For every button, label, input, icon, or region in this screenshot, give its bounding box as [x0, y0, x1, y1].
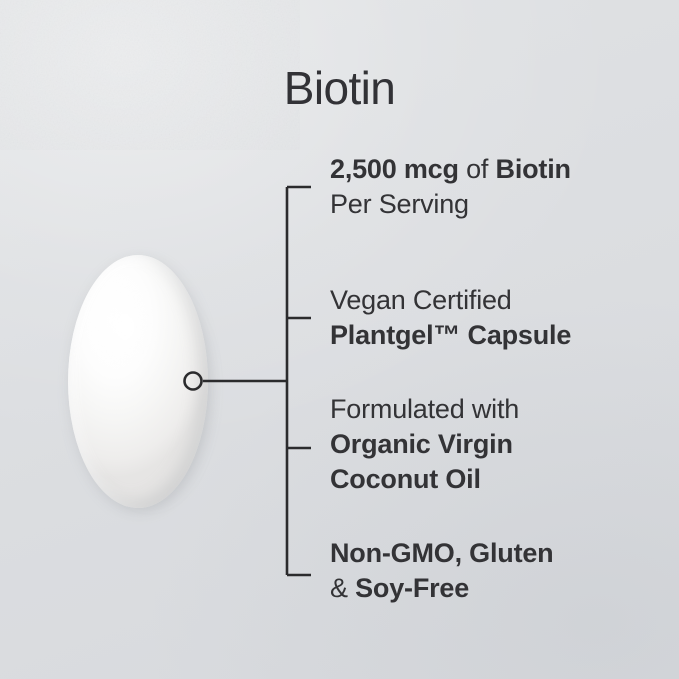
- feature-non-gmo-gluten-soy-free: Non-GMO, Gluten& Soy-Free: [330, 536, 553, 606]
- feature-line: Non-GMO, Gluten: [330, 536, 553, 571]
- feature-text-run: Vegan Certified: [330, 285, 512, 315]
- feature-text-run: Soy-Free: [355, 573, 469, 603]
- feature-text-run: 2,500 mcg: [330, 154, 466, 184]
- feature-text-run: Biotin: [496, 154, 571, 184]
- feature-line: Formulated with: [330, 392, 519, 427]
- feature-text-run: Per Serving: [330, 189, 469, 219]
- feature-line: 2,500 mcg of Biotin: [330, 152, 571, 187]
- product-infographic: Biotin 2,500 mcg of BiotinPer Serving Ve…: [0, 0, 679, 679]
- feature-line: Per Serving: [330, 187, 571, 222]
- feature-organic-virgin-coconut-oil: Formulated withOrganic VirginCoconut Oil: [330, 392, 519, 497]
- feature-text-run: of: [466, 154, 495, 184]
- feature-text-run: &: [330, 573, 355, 603]
- feature-biotin-dosage: 2,500 mcg of BiotinPer Serving: [330, 152, 571, 222]
- feature-line: Vegan Certified: [330, 283, 571, 318]
- feature-vegan-plantgel-capsule: Vegan CertifiedPlantgel™ Capsule: [330, 283, 571, 353]
- feature-text-run: Plantgel™ Capsule: [330, 320, 571, 350]
- callout-marker-circle: [185, 373, 202, 390]
- feature-line: Plantgel™ Capsule: [330, 318, 571, 353]
- feature-text-run: Non-GMO, Gluten: [330, 538, 553, 568]
- feature-line: & Soy-Free: [330, 571, 553, 606]
- feature-line: Organic Virgin: [330, 427, 519, 462]
- feature-text-run: Formulated with: [330, 394, 519, 424]
- feature-text-run: Coconut Oil: [330, 464, 481, 494]
- feature-text-run: Organic Virgin: [330, 429, 513, 459]
- feature-line: Coconut Oil: [330, 462, 519, 497]
